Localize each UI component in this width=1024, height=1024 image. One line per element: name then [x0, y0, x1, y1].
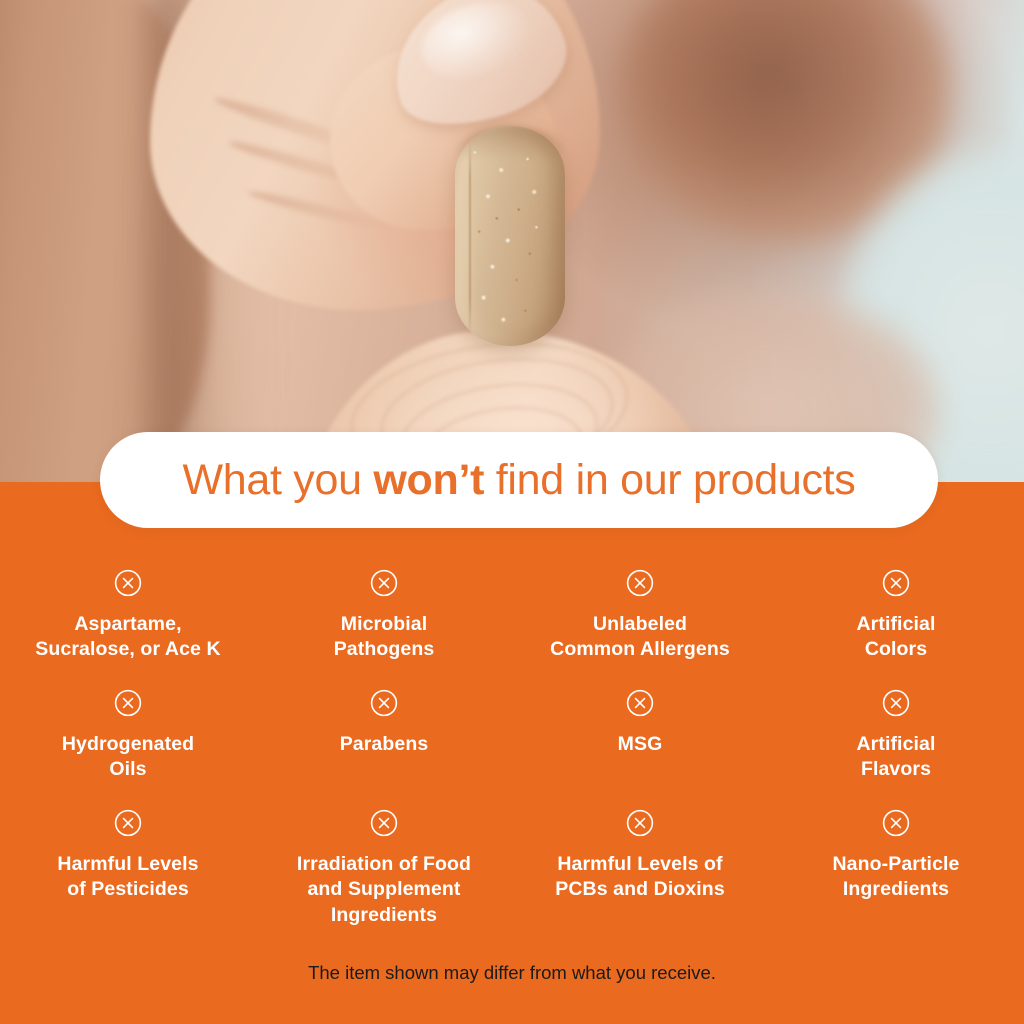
exclusion-item: Harmful Levels of Pesticides — [0, 796, 256, 926]
headline-before: What you — [183, 456, 374, 504]
exclusion-label: Artificial Flavors — [856, 732, 935, 783]
exclusion-label: Unlabeled Common Allergens — [550, 612, 730, 663]
circle-x-icon — [881, 568, 911, 598]
circle-x-icon — [369, 808, 399, 838]
circle-x-icon — [625, 808, 655, 838]
headline-after: find in our products — [484, 456, 855, 504]
tablet-edge-seam — [469, 140, 471, 336]
headline-banner: What you won’t find in our products — [100, 432, 938, 528]
exclusion-label: Artificial Colors — [856, 612, 935, 663]
page-title: What you won’t find in our products — [183, 459, 856, 502]
circle-x-icon — [625, 688, 655, 718]
headline-emphasis: won’t — [373, 456, 484, 504]
circle-x-icon — [881, 808, 911, 838]
exclusion-item: Aspartame, Sucralose, or Ace K — [0, 556, 256, 676]
circle-x-icon — [369, 688, 399, 718]
circle-x-icon — [369, 568, 399, 598]
exclusion-label: Parabens — [340, 732, 429, 757]
exclusion-item: Parabens — [256, 676, 512, 796]
disclaimer-text: The item shown may differ from what you … — [0, 962, 1024, 984]
exclusion-item: Harmful Levels of PCBs and Dioxins — [512, 796, 768, 926]
exclusion-label: Harmful Levels of PCBs and Dioxins — [555, 852, 725, 903]
exclusion-item: Unlabeled Common Allergens — [512, 556, 768, 676]
exclusions-grid: Aspartame, Sucralose, or Ace K Microbial… — [0, 556, 1024, 926]
exclusion-label: Nano-Particle Ingredients — [832, 852, 959, 903]
circle-x-icon — [881, 688, 911, 718]
exclusion-item: MSG — [512, 676, 768, 796]
exclusion-item: Nano-Particle Ingredients — [768, 796, 1024, 926]
circle-x-icon — [113, 688, 143, 718]
exclusion-label: Harmful Levels of Pesticides — [57, 852, 198, 903]
exclusion-label: Hydrogenated Oils — [62, 732, 194, 783]
circle-x-icon — [113, 568, 143, 598]
exclusion-item: Artificial Colors — [768, 556, 1024, 676]
exclusion-item: Artificial Flavors — [768, 676, 1024, 796]
circle-x-icon — [625, 568, 655, 598]
exclusion-item: Irradiation of Food and Supplement Ingre… — [256, 796, 512, 926]
exclusion-label: Microbial Pathogens — [334, 612, 435, 663]
exclusion-item: Microbial Pathogens — [256, 556, 512, 676]
promo-graphic: What you won’t find in our products Aspa… — [0, 0, 1024, 1024]
exclusion-item: Hydrogenated Oils — [0, 676, 256, 796]
exclusion-label: Aspartame, Sucralose, or Ace K — [35, 612, 220, 663]
circle-x-icon — [113, 808, 143, 838]
product-photo — [0, 0, 1024, 482]
exclusion-label: MSG — [618, 732, 663, 757]
exclusion-label: Irradiation of Food and Supplement Ingre… — [297, 852, 471, 928]
